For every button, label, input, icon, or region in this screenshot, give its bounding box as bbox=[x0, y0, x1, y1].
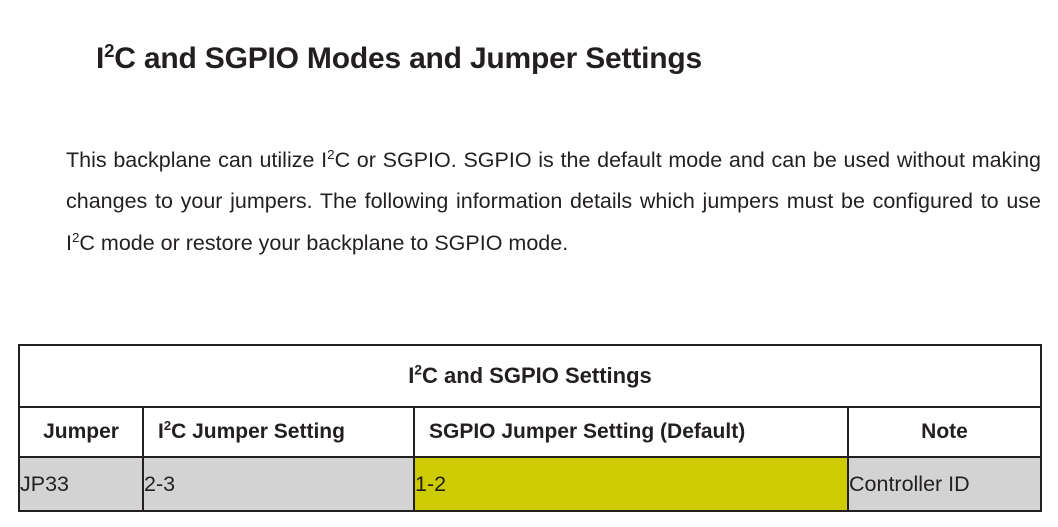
cell-sgpio-setting: 1-2 bbox=[414, 457, 848, 511]
page-title: I2C and SGPIO Modes and Jumper Settings bbox=[96, 42, 702, 76]
cell-note: Controller ID bbox=[848, 457, 1041, 511]
column-header-i2c-jumper-setting: I2C Jumper Setting bbox=[143, 407, 414, 457]
table-title-cell: I2C and SGPIO Settings bbox=[19, 345, 1041, 407]
column-header-i2c-superscript: 2 bbox=[164, 418, 171, 433]
table-title: I2C and SGPIO Settings bbox=[408, 363, 652, 388]
document-page: I2C and SGPIO Modes and Jumper Settings … bbox=[0, 0, 1058, 527]
column-header-note: Note bbox=[848, 407, 1041, 457]
jumper-settings-table: I2C and SGPIO Settings Jumper I2C Jumper… bbox=[18, 344, 1042, 512]
cell-jumper: JP33 bbox=[19, 457, 143, 511]
column-header-sgpio-jumper-setting: SGPIO Jumper Setting (Default) bbox=[414, 407, 848, 457]
column-header-jumper: Jumper bbox=[19, 407, 143, 457]
page-title-suffix: C and SGPIO Modes and Jumper Settings bbox=[114, 42, 702, 75]
paragraph-part-3: C mode or restore your backplane to SGPI… bbox=[79, 231, 568, 255]
page-title-prefix: I bbox=[96, 42, 104, 75]
column-header-i2c-suffix: C Jumper Setting bbox=[171, 420, 345, 443]
table-row: JP33 2-3 1-2 Controller ID bbox=[19, 457, 1041, 511]
jumper-settings-table-container: I2C and SGPIO Settings Jumper I2C Jumper… bbox=[18, 344, 1040, 512]
table-title-row: I2C and SGPIO Settings bbox=[19, 345, 1041, 407]
table-title-suffix: C and SGPIO Settings bbox=[422, 363, 652, 388]
paragraph-part-1: This backplane can utilize I bbox=[66, 148, 327, 172]
table-title-superscript: 2 bbox=[414, 363, 422, 378]
page-title-superscript: 2 bbox=[104, 40, 114, 61]
paragraph-superscript-1: 2 bbox=[327, 146, 334, 161]
body-paragraph: This backplane can utilize I2C or SGPIO.… bbox=[66, 140, 1041, 265]
table-header-row: Jumper I2C Jumper Setting SGPIO Jumper S… bbox=[19, 407, 1041, 457]
cell-i2c-setting: 2-3 bbox=[143, 457, 414, 511]
